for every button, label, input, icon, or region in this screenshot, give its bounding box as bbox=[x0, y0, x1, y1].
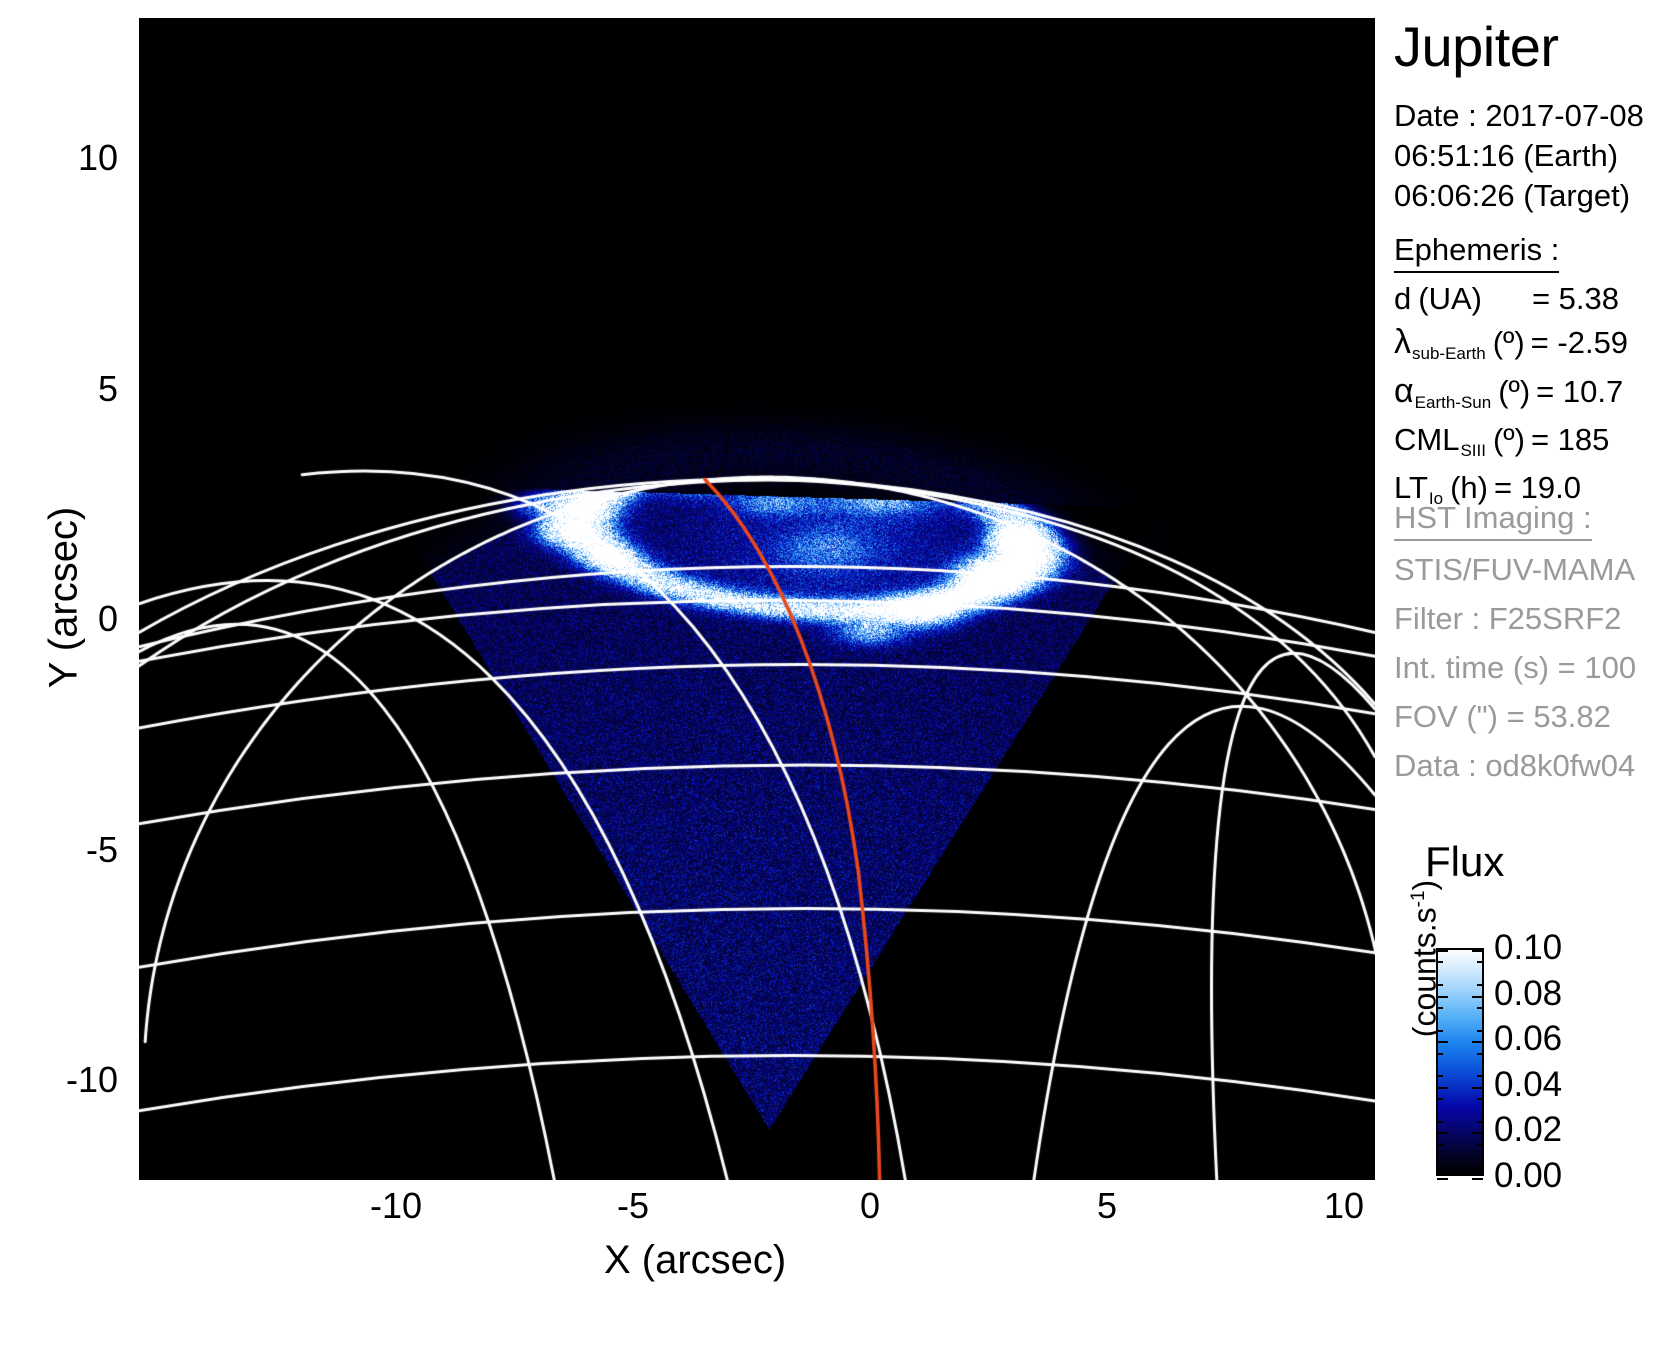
x-tick-label: -10 bbox=[326, 1188, 466, 1224]
colorbar-tick-label: 0.04 bbox=[1494, 1067, 1562, 1102]
ephemeris-block: Ephemeris : d(UA)= 5.38λsub-Earth(º)= -2… bbox=[1394, 232, 1628, 510]
colorbar-minor-tick bbox=[1477, 1121, 1483, 1123]
x-tick-label: 0 bbox=[800, 1188, 940, 1224]
colorbar-major-tick bbox=[1437, 1132, 1448, 1134]
ephemeris-unit: (UA) bbox=[1411, 282, 1526, 316]
colorbar-tick-label: 0.02 bbox=[1494, 1112, 1562, 1147]
colorbar-minor-tick bbox=[1437, 1030, 1443, 1032]
ephemeris-value: = 5.38 bbox=[1526, 282, 1619, 316]
colorbar-tick-label: 0.06 bbox=[1494, 1021, 1562, 1056]
hst-imaging-row: Data : od8k0fw04 bbox=[1394, 746, 1636, 786]
colorbar-minor-tick bbox=[1477, 1098, 1483, 1100]
ephemeris-unit: (º) bbox=[1491, 375, 1530, 409]
jupiter-aurora-canvas bbox=[139, 18, 1375, 1180]
aurora-image-plot bbox=[139, 18, 1375, 1180]
colorbar-gradient bbox=[1436, 948, 1484, 1176]
colorbar-minor-tick bbox=[1437, 984, 1443, 986]
ephemeris-subscript: Earth-Sun bbox=[1414, 386, 1492, 420]
hst-imaging-rows: STIS/FUV-MAMAFilter : F25SRF2Int. time (… bbox=[1394, 550, 1636, 786]
ephemeris-symbol: CML bbox=[1394, 423, 1459, 457]
colorbar-minor-tick bbox=[1477, 961, 1483, 963]
y-tick-label: 10 bbox=[0, 140, 118, 176]
date-line-target-time: 06:06:26 (Target) bbox=[1394, 176, 1644, 216]
colorbar-major-tick bbox=[1437, 1087, 1448, 1089]
y-tick-label: -10 bbox=[0, 1062, 118, 1098]
y-tick-label: 5 bbox=[0, 371, 118, 407]
ephemeris-subscript: sub-Earth bbox=[1411, 337, 1486, 371]
colorbar-major-tick bbox=[1437, 996, 1448, 998]
colorbar-minor-tick bbox=[1437, 1075, 1443, 1077]
ephemeris-value: = 185 bbox=[1525, 423, 1609, 457]
ephemeris-subscript: SIII bbox=[1459, 434, 1486, 468]
colorbar-minor-tick bbox=[1477, 1167, 1483, 1169]
colorbar-major-tick bbox=[1472, 1178, 1483, 1180]
x-tick-label: -5 bbox=[563, 1188, 703, 1224]
ephemeris-row: λsub-Earth(º)= -2.59 bbox=[1394, 325, 1628, 365]
ephemeris-rows: d(UA)= 5.38λsub-Earth(º)= -2.59αEarth-Su… bbox=[1394, 282, 1628, 510]
ephemeris-row: αEarth-Sun(º)= 10.7 bbox=[1394, 374, 1628, 414]
colorbar-tick-label: 0.08 bbox=[1494, 976, 1562, 1011]
colorbar-minor-tick bbox=[1437, 1053, 1443, 1055]
colorbar-major-tick bbox=[1437, 1041, 1448, 1043]
colorbar-minor-tick bbox=[1437, 1098, 1443, 1100]
colorbar-major-tick bbox=[1472, 996, 1483, 998]
colorbar-minor-tick bbox=[1477, 1053, 1483, 1055]
date-line-earth-time: 06:51:16 (Earth) bbox=[1394, 136, 1644, 176]
hst-imaging-row: STIS/FUV-MAMA bbox=[1394, 550, 1636, 590]
ephemeris-unit: (º) bbox=[1486, 423, 1525, 457]
page-title: Jupiter bbox=[1394, 14, 1559, 79]
colorbar-major-tick bbox=[1472, 1041, 1483, 1043]
colorbar-tick-label: 0.10 bbox=[1494, 930, 1562, 965]
colorbar-major-tick bbox=[1472, 950, 1483, 952]
hst-imaging-heading: HST Imaging : bbox=[1394, 500, 1592, 541]
y-tick-label: -5 bbox=[0, 832, 118, 868]
colorbar-minor-tick bbox=[1477, 1030, 1483, 1032]
colorbar-minor-tick bbox=[1477, 1144, 1483, 1146]
colorbar-minor-tick bbox=[1477, 1007, 1483, 1009]
colorbar-minor-tick bbox=[1437, 1144, 1443, 1146]
ephemeris-heading: Ephemeris : bbox=[1394, 232, 1559, 273]
observation-date-block: Date : 2017-07-08 06:51:16 (Earth) 06:06… bbox=[1394, 96, 1644, 216]
hst-imaging-block: HST Imaging : STIS/FUV-MAMAFilter : F25S… bbox=[1394, 500, 1636, 786]
hst-imaging-row: Filter : F25SRF2 bbox=[1394, 599, 1636, 639]
hst-imaging-row: FOV (") = 53.82 bbox=[1394, 697, 1636, 737]
colorbar-major-tick bbox=[1437, 1178, 1448, 1180]
colorbar-major-tick bbox=[1472, 1132, 1483, 1134]
hst-imaging-row: Int. time (s) = 100 bbox=[1394, 648, 1636, 688]
colorbar-minor-tick bbox=[1437, 961, 1443, 963]
x-tick-label: 10 bbox=[1274, 1188, 1414, 1224]
colorbar-minor-tick bbox=[1477, 1075, 1483, 1077]
y-tick-label: 0 bbox=[0, 601, 118, 637]
ephemeris-value: = -2.59 bbox=[1525, 326, 1628, 360]
date-line-earth-date: Date : 2017-07-08 bbox=[1394, 96, 1644, 136]
ephemeris-unit: (º) bbox=[1486, 326, 1525, 360]
y-axis-title: Y (arcsec) bbox=[42, 448, 87, 748]
colorbar-minor-tick bbox=[1437, 1121, 1443, 1123]
x-axis-title: X (arcsec) bbox=[604, 1238, 786, 1283]
colorbar-major-tick bbox=[1437, 950, 1448, 952]
ephemeris-symbol: λ bbox=[1394, 325, 1411, 359]
ephemeris-symbol: d bbox=[1394, 282, 1411, 316]
ephemeris-row: d(UA)= 5.38 bbox=[1394, 282, 1628, 316]
colorbar-tick-label: 0.00 bbox=[1494, 1158, 1562, 1193]
ephemeris-symbol: α bbox=[1394, 374, 1414, 408]
colorbar-major-tick bbox=[1472, 1087, 1483, 1089]
colorbar-minor-tick bbox=[1477, 984, 1483, 986]
ephemeris-value: = 10.7 bbox=[1530, 375, 1623, 409]
colorbar-minor-tick bbox=[1437, 1167, 1443, 1169]
x-tick-label: 5 bbox=[1037, 1188, 1177, 1224]
colorbar-minor-tick bbox=[1437, 1007, 1443, 1009]
ephemeris-row: CMLSIII(º)= 185 bbox=[1394, 423, 1628, 462]
colorbar bbox=[1436, 948, 1484, 1176]
